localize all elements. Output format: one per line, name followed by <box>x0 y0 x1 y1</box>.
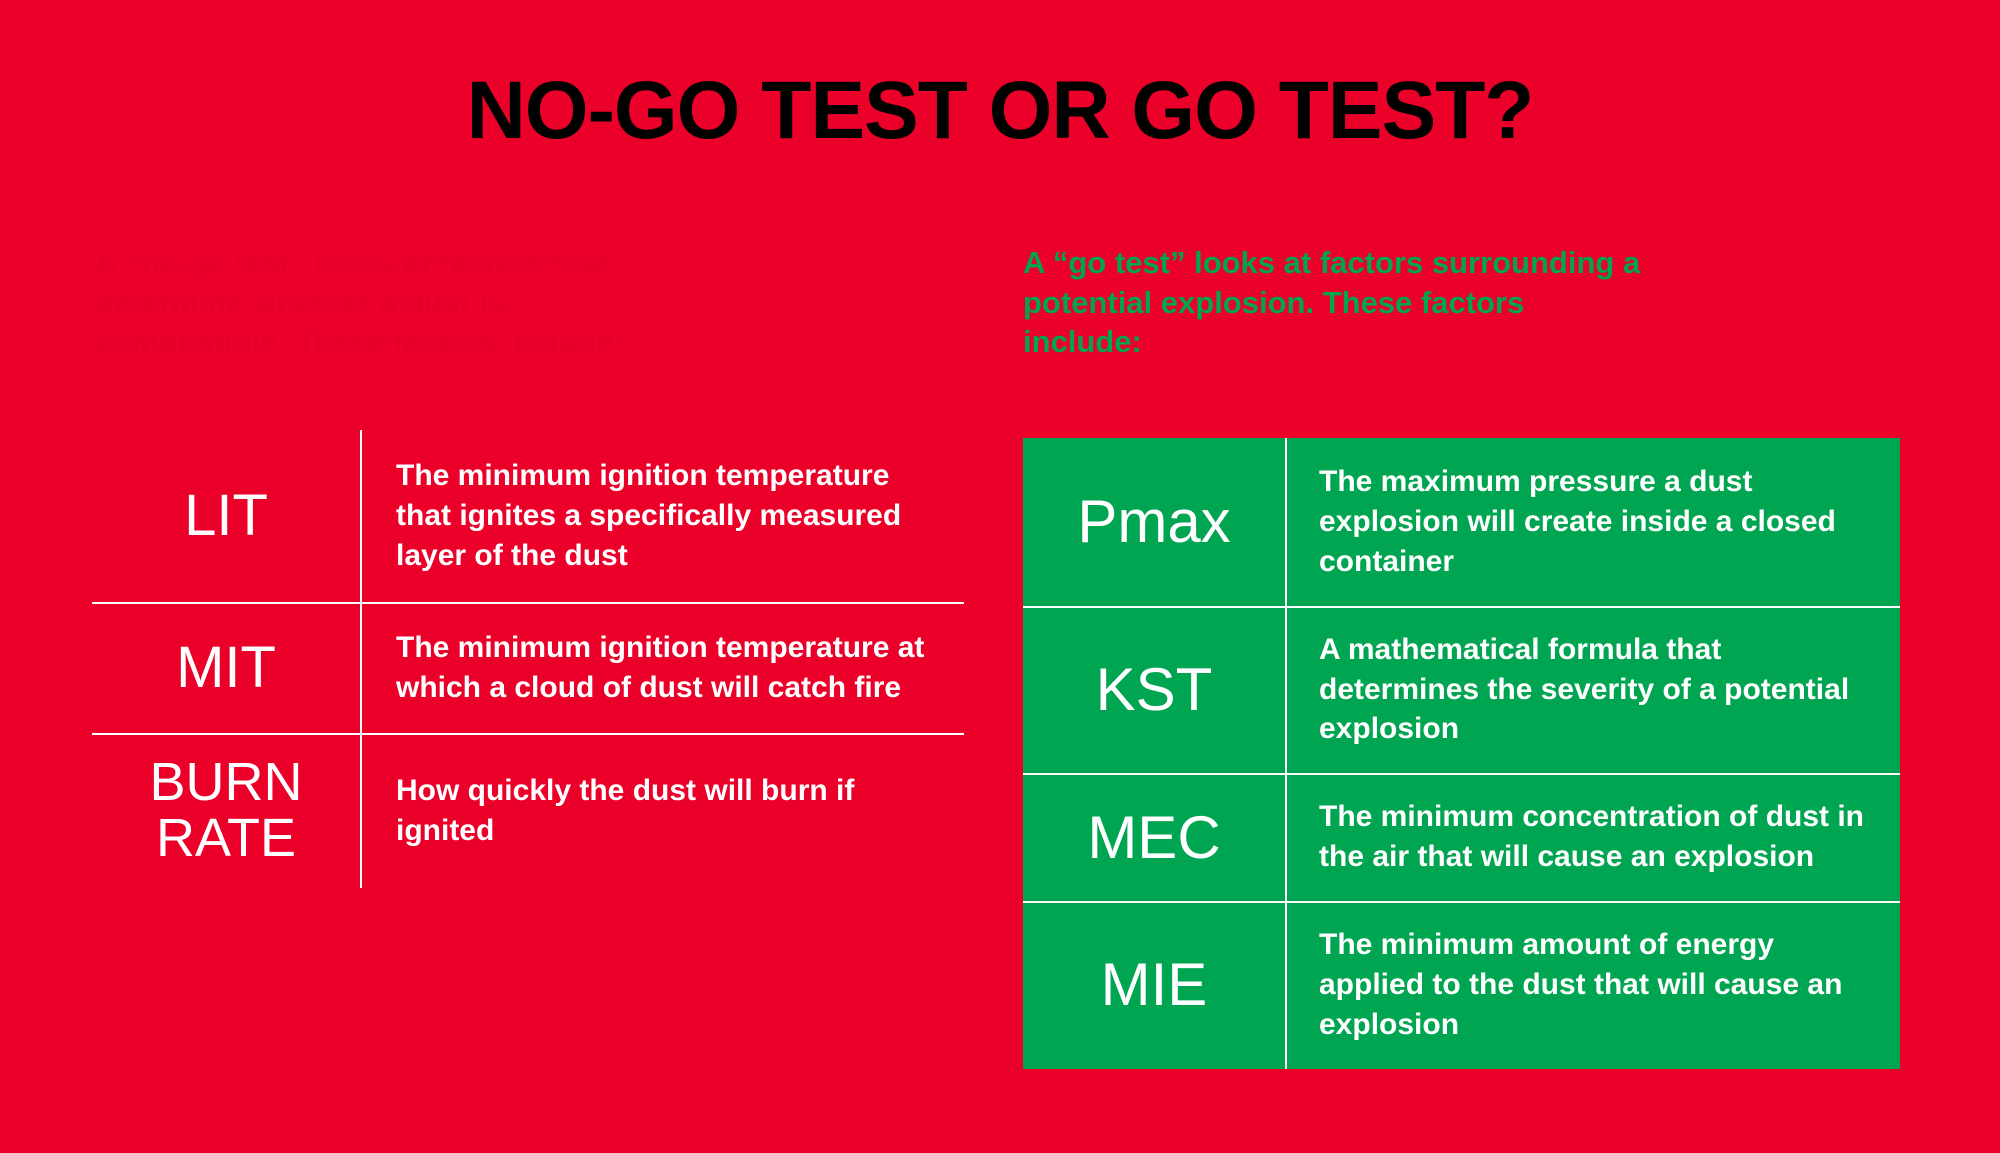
no-go-test-table: LIT The minimum ignition temperature tha… <box>92 430 972 888</box>
definition-text: The minimum amount of energy applied to … <box>1287 901 1900 1069</box>
definition-text: The minimum concentration of dust in the… <box>1287 773 1900 901</box>
table-row: LIT The minimum ignition temperature tha… <box>92 430 972 602</box>
term-label: Pmax <box>1023 438 1285 606</box>
term-label: MIT <box>92 602 360 734</box>
table-row: KST A mathematical formula that determin… <box>1023 606 1900 774</box>
term-label: MIE <box>1023 901 1285 1069</box>
term-label: LIT <box>92 430 360 602</box>
definition-text: The maximum pressure a dust explosion wi… <box>1287 438 1900 606</box>
definition-text: The minimum ignition temperature that ig… <box>362 430 972 602</box>
table-row: Pmax The maximum pressure a dust explosi… <box>1023 438 1900 606</box>
no-go-test-intro-text: A “no-go test” looks at factors that det… <box>95 243 695 362</box>
go-test-table: Pmax The maximum pressure a dust explosi… <box>1023 438 1900 1069</box>
go-test-intro-text: A “go test” looks at factors surrounding… <box>1023 243 1643 362</box>
term-label: MEC <box>1023 773 1285 901</box>
table-row: MIE The minimum amount of energy applied… <box>1023 901 1900 1069</box>
definition-text: How quickly the dust will burn if ignite… <box>362 733 972 887</box>
page-title: NO-GO TEST OR GO TEST? <box>0 68 2000 154</box>
table-row: MIT The minimum ignition temperature at … <box>92 602 972 734</box>
term-label: KST <box>1023 606 1285 774</box>
table-row: MEC The minimum concentration of dust in… <box>1023 773 1900 901</box>
term-label: BURN RATE <box>92 733 360 887</box>
table-row: BURN RATE How quickly the dust will burn… <box>92 733 972 887</box>
slide-canvas: NO-GO TEST OR GO TEST? A “no-go test” lo… <box>0 0 2000 1153</box>
definition-text: A mathematical formula that determines t… <box>1287 606 1900 774</box>
definition-text: The minimum ignition temperature at whic… <box>362 602 972 734</box>
